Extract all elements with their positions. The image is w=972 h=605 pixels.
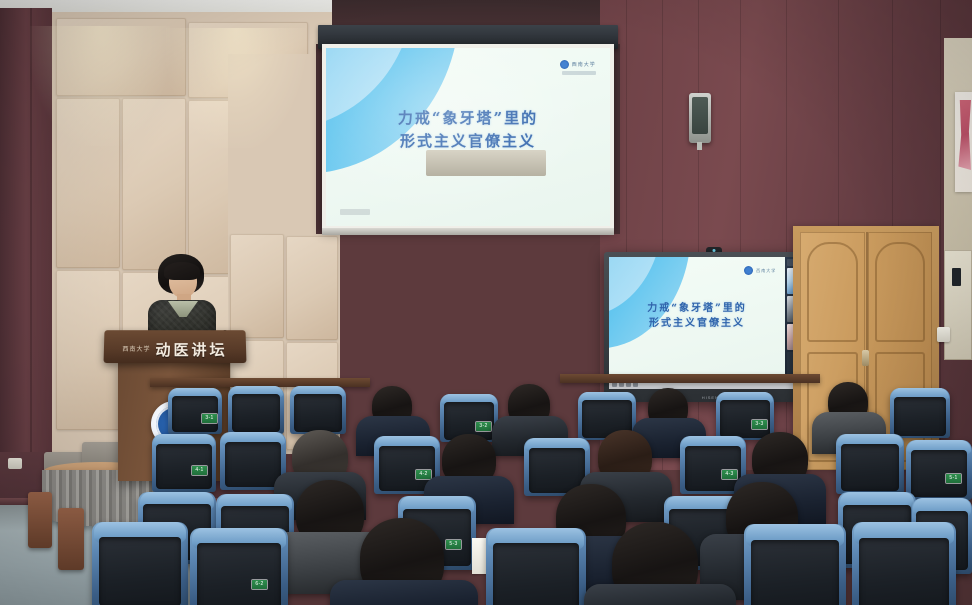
tv-slide-title-line-1: 力戒“象牙塔”里的 — [609, 301, 785, 317]
wall-panel — [56, 98, 120, 268]
university-seal-icon — [744, 266, 753, 275]
seat-armrest — [58, 508, 84, 570]
seat[interactable]: 5-1 — [906, 440, 972, 500]
wall-panel — [122, 98, 186, 270]
slide-logo-underline — [562, 71, 596, 75]
attendee-torso — [330, 580, 478, 605]
seat-armrest — [28, 492, 52, 548]
projector-screen-rail — [322, 228, 614, 235]
seat[interactable] — [852, 522, 956, 605]
seat-number-plaque: 4-2 — [416, 470, 431, 479]
slide-logo-wordmark: 西南大学 — [756, 268, 776, 274]
seat[interactable]: 4-1 — [152, 434, 216, 492]
seat-number-plaque: 5-3 — [446, 540, 461, 549]
desk-row — [560, 374, 820, 383]
lectern-nameplate: 西南大学 动医讲坛 — [104, 330, 247, 363]
wall-banner — [955, 92, 972, 192]
slide-footer-badge — [340, 209, 370, 215]
projection-screen: 西南大学 力戒“象牙塔”里的 形式主义官僚主义 — [322, 44, 614, 230]
banner-graphic-icon — [957, 100, 971, 170]
tv-cabinet — [426, 150, 546, 176]
seat[interactable] — [486, 528, 586, 605]
seat[interactable] — [890, 388, 950, 438]
tv-slide-title: 力戒“象牙塔”里的 形式主义官僚主义 — [609, 301, 785, 332]
seat[interactable] — [228, 386, 284, 434]
seat[interactable] — [744, 524, 846, 605]
presenter-fringe — [164, 262, 200, 280]
slide-title-line-1: 力戒“象牙塔”里的 — [326, 107, 610, 130]
seat-number-plaque: 4-1 — [192, 466, 207, 475]
light-switch-icon[interactable] — [937, 327, 950, 342]
wall-speaker-icon — [689, 93, 711, 143]
door-handle-icon[interactable] — [862, 350, 869, 366]
wall-panel — [286, 236, 338, 340]
seat[interactable]: 3-3 — [716, 392, 774, 440]
tv-slide-content: 西南大学 力戒“象牙塔”里的 形式主义官僚主义 — [609, 257, 785, 389]
university-seal-icon — [560, 60, 569, 69]
seat-number-plaque: 5-1 — [946, 474, 961, 483]
seat-number-plaque: 6-2 — [252, 580, 267, 589]
slide-content: 西南大学 力戒“象牙塔”里的 形式主义官僚主义 — [326, 48, 610, 226]
seat-number-plaque: 3-1 — [202, 414, 217, 423]
seat-number-plaque: 3-2 — [476, 422, 491, 431]
audience-seating: 3-1 3-2 3-3 — [0, 372, 972, 605]
lecture-hall-photo: 西南大学 力戒“象牙塔”里的 形式主义官僚主义 — [0, 0, 972, 605]
lectern-forum-title: 动医讲坛 — [155, 339, 227, 360]
slide-title: 力戒“象牙塔”里的 形式主义官僚主义 — [326, 107, 610, 154]
wall-panel — [230, 234, 284, 338]
slide-logo: 西南大学 — [744, 266, 776, 275]
seat-number-plaque: 3-3 — [752, 420, 767, 429]
wall-panel — [56, 18, 186, 96]
seat-number-plaque: 4-3 — [722, 470, 737, 479]
seat[interactable]: 3-1 — [168, 388, 222, 434]
lectern-university-text: 西南大学 — [122, 344, 150, 353]
notice-board — [944, 250, 972, 360]
seat[interactable] — [92, 522, 188, 605]
slide-logo: 西南大学 — [560, 60, 596, 69]
slide-logo-wordmark: 西南大学 — [572, 61, 596, 68]
seat[interactable]: 6-2 — [190, 528, 288, 605]
seat[interactable] — [290, 386, 346, 434]
tv-slide-title-line-2: 形式主义官僚主义 — [609, 316, 785, 332]
attendee-torso — [584, 584, 736, 605]
seat[interactable] — [836, 434, 904, 494]
